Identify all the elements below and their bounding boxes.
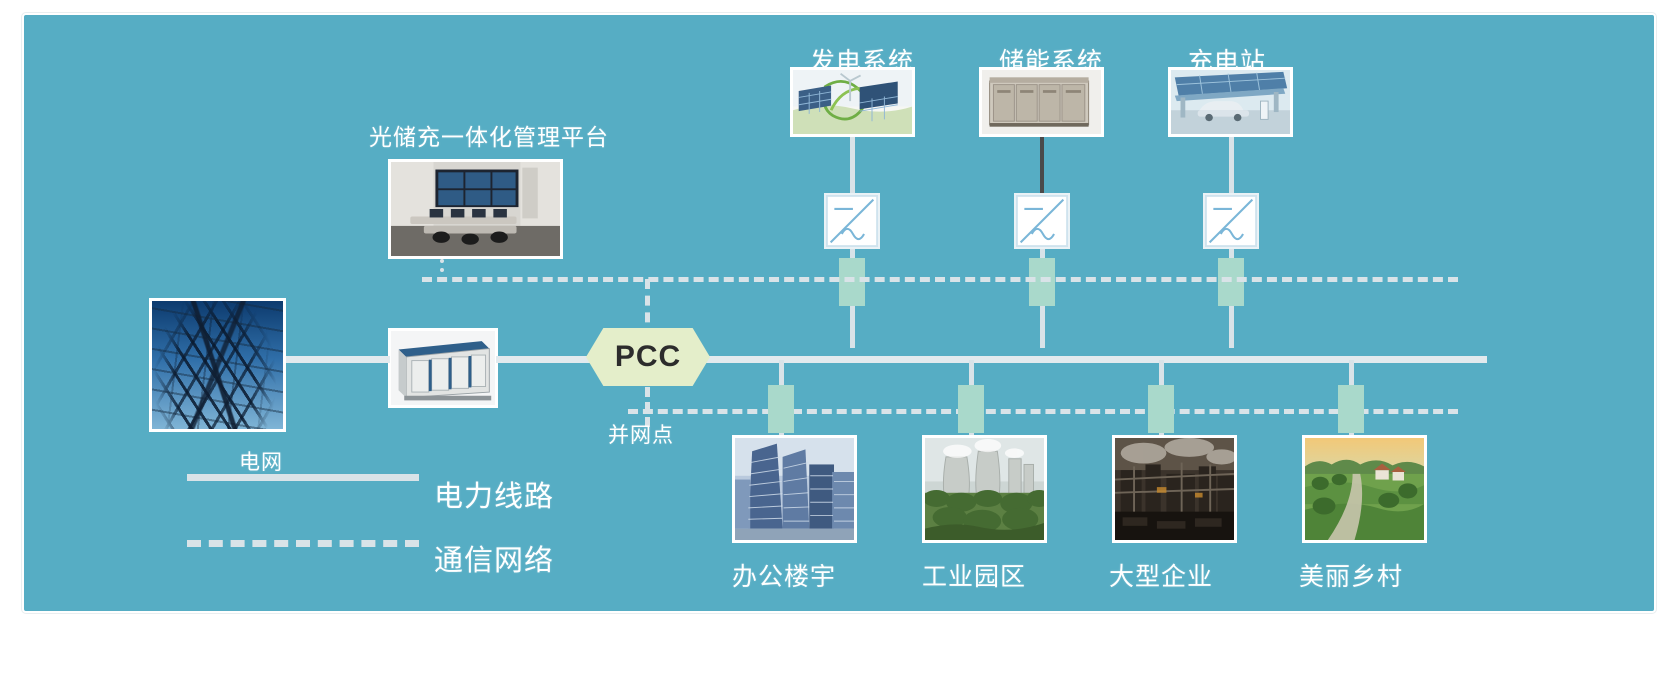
comm-bus-lower — [628, 409, 1458, 414]
solar-pv-icon — [790, 67, 915, 137]
industrial-park-icon — [922, 435, 1047, 543]
connector-box-charge — [1218, 258, 1244, 306]
legend-label-comm-network: 通信网络 — [434, 537, 554, 579]
office-building-icon — [732, 435, 857, 543]
load-label-village: 美丽乡村 — [1299, 557, 1403, 593]
connector-box-industrial — [958, 385, 984, 433]
power-line-charge-top — [1229, 137, 1234, 193]
pcc-node[interactable]: PCC — [586, 328, 710, 386]
village-icon — [1302, 435, 1427, 543]
load-label-office: 办公楼宇 — [732, 557, 836, 593]
battery-container-icon — [979, 67, 1104, 137]
legend-swatch-comm-network — [187, 540, 419, 547]
microgrid-architecture-diagram: 发电系统 储能系统 充电站 光储充一体化管理平台 — [22, 13, 1656, 613]
connector-box-enterprise — [1148, 385, 1174, 433]
diagram-canvas-wrapper: 发电系统 储能系统 充电站 光储充一体化管理平台 — [0, 0, 1678, 673]
charging-station-icon — [1168, 67, 1293, 137]
inverter-icon-charging — [1203, 193, 1259, 249]
large-enterprise-icon — [1112, 435, 1237, 543]
connector-box-office — [768, 385, 794, 433]
load-label-enterprise: 大型企业 — [1109, 557, 1213, 593]
management-platform-icon — [388, 159, 563, 259]
inverter-icon-generation — [824, 193, 880, 249]
pcc-label: PCC — [615, 340, 681, 374]
power-line-substation-to-pcc — [496, 356, 594, 363]
power-line-grid-to-substation — [286, 356, 390, 363]
pcc-sublabel: 并网点 — [608, 419, 674, 449]
comm-bus-upper — [422, 277, 1458, 282]
load-label-industrial: 工业园区 — [922, 557, 1026, 593]
legend-label-power-line: 电力线路 — [434, 473, 554, 515]
power-line-storage-top — [1040, 137, 1044, 193]
platform-title-label: 光储充一体化管理平台 — [369, 118, 609, 152]
power-grid-tower-icon — [149, 298, 286, 432]
power-line-gen-top — [850, 137, 855, 193]
connector-box-gen — [839, 258, 865, 306]
main-power-busbar — [704, 356, 1487, 363]
inverter-icon-storage — [1014, 193, 1070, 249]
connector-box-village — [1338, 385, 1364, 433]
connector-box-storage — [1029, 258, 1055, 306]
legend-swatch-power-line — [187, 474, 419, 481]
comm-drop-platform — [440, 259, 444, 281]
grid-label: 电网 — [239, 446, 283, 476]
substation-icon — [388, 328, 498, 408]
